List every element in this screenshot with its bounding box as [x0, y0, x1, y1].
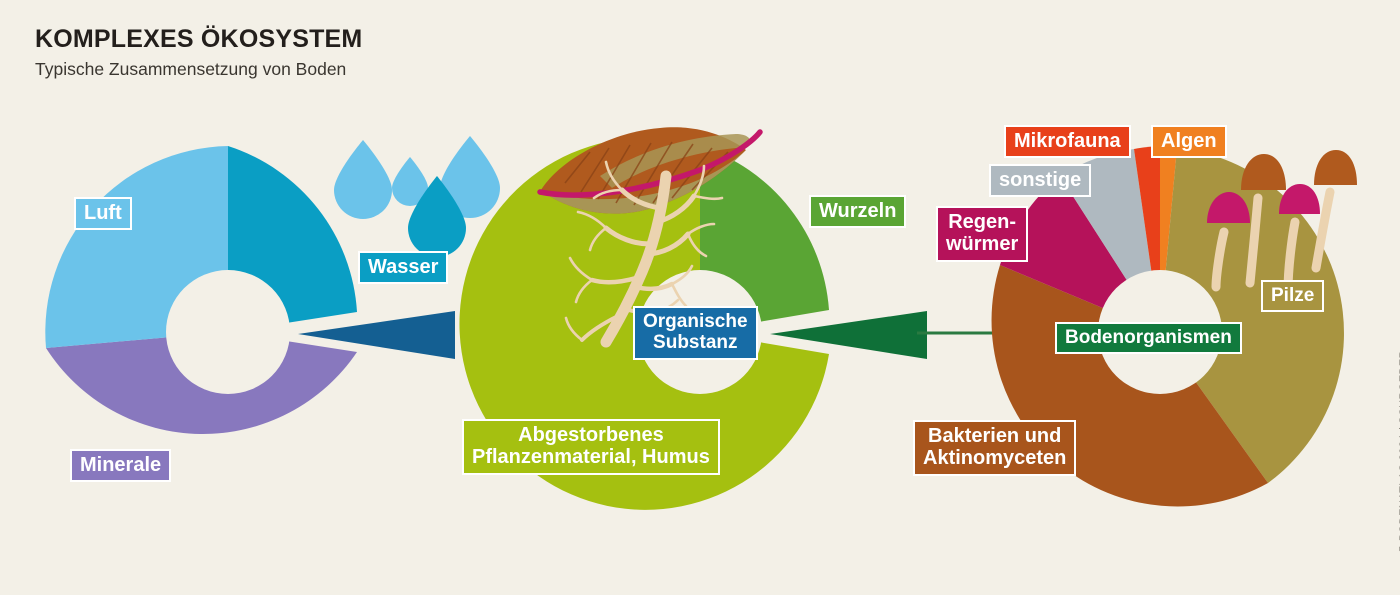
label-algen[interactable]: Algen [1151, 125, 1227, 158]
infographic-canvas: KOMPLEXES ÖKOSYSTEM Typische Zusammenset… [0, 0, 1400, 595]
label-pilze[interactable]: Pilze [1261, 280, 1324, 312]
label-minerale[interactable]: Minerale [70, 449, 171, 482]
label-wasser[interactable]: Wasser [358, 251, 448, 284]
donut-hole-1 [166, 270, 290, 394]
label-sonstige[interactable]: sonstige [989, 164, 1091, 197]
label-luft[interactable]: Luft [74, 197, 132, 230]
label-bakterien[interactable]: Bakterien und Aktinomyceten [913, 420, 1076, 476]
label-mikrofauna[interactable]: Mikrofauna [1004, 125, 1131, 158]
label-regenwuermer[interactable]: Regen- würmer [936, 206, 1028, 262]
charts-artwork [0, 0, 1400, 595]
label-wurzeln[interactable]: Wurzeln [809, 195, 906, 228]
label-bodenorganismen[interactable]: Bodenorganismen [1055, 322, 1242, 354]
water-droplets-icon [334, 136, 500, 257]
label-humus[interactable]: Abgestorbenes Pflanzenmaterial, Humus [462, 419, 720, 475]
label-organische-substanz[interactable]: Organische Substanz [633, 306, 758, 360]
